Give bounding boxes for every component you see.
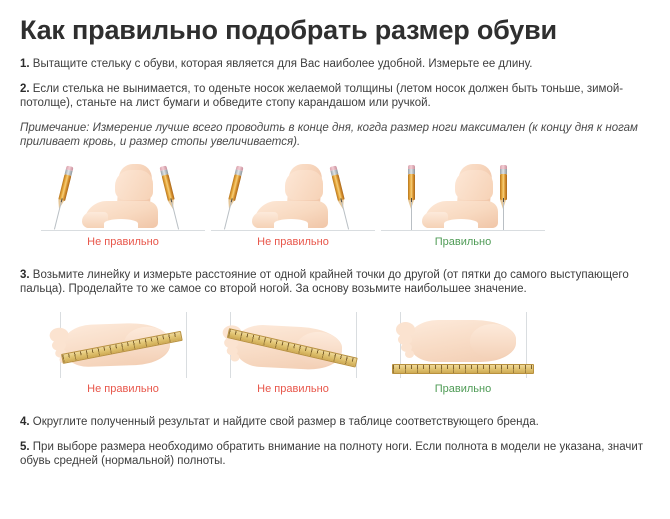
foot-side-illustration	[418, 164, 504, 230]
guide-line	[356, 312, 357, 378]
baseline	[381, 230, 544, 231]
step-2-text: 2. Если стелька не вынимается, то оденьт…	[20, 82, 652, 110]
step-4-label: 4. Округлите полученный результат и найд…	[20, 416, 539, 428]
foot-side-illustration	[248, 164, 334, 230]
figure-stage	[208, 308, 378, 382]
pencil-body	[228, 174, 241, 201]
pencil-body	[408, 174, 415, 200]
heel-shape	[470, 324, 516, 358]
figure-incorrect-pencil-tilt-1: Не правильно	[38, 161, 208, 257]
arch-shape	[444, 219, 478, 228]
figure-caption: Правильно	[378, 235, 548, 249]
pencil-trace-line	[411, 202, 412, 230]
figure-stage	[208, 161, 378, 235]
pencil-body	[58, 174, 71, 201]
figure-row-rulers: Не правильно Не правил	[18, 308, 652, 404]
foot-top-illustration	[396, 318, 516, 364]
figure-caption: Не правильно	[38, 382, 208, 396]
figure-stage	[38, 308, 208, 382]
ankle-shape	[115, 170, 153, 200]
pencil-icon	[500, 165, 507, 209]
step-1-label: 1. Вытащите стельку с обуви, которая явл…	[20, 58, 532, 70]
step-4-text: 4. Округлите полученный результат и найд…	[20, 415, 652, 429]
figure-correct-ruler: Правильно	[378, 308, 548, 404]
pencil-body	[500, 174, 507, 200]
ankle-shape	[285, 170, 323, 200]
baseline	[41, 230, 204, 231]
step-5-text: 5. При выборе размера необходимо обратит…	[20, 440, 652, 468]
figure-stage	[378, 161, 548, 235]
ankle-shape	[455, 170, 493, 200]
pencil-icon	[226, 165, 243, 209]
pencil-ferrule	[408, 169, 415, 174]
figure-stage	[38, 161, 208, 235]
figure-incorrect-pencil-tilt-2: Не правильно	[208, 161, 378, 257]
step-5-label: 5. При выборе размера необходимо обратит…	[20, 441, 643, 467]
pencil-trace-line	[503, 202, 504, 230]
pencil-icon	[56, 165, 73, 209]
ruler-ticks-minor	[393, 369, 533, 373]
arch-shape	[274, 219, 308, 228]
pencil-ferrule	[500, 169, 507, 174]
step-1-text: 1. Вытащите стельку с обуви, которая явл…	[20, 57, 652, 71]
figure-stage	[378, 308, 548, 382]
figure-incorrect-ruler-2: Не правильно	[208, 308, 378, 404]
ruler-icon	[392, 364, 534, 374]
figure-caption: Не правильно	[208, 235, 378, 249]
figure-caption: Не правильно	[38, 235, 208, 249]
figure-caption: Правильно	[378, 382, 548, 396]
baseline	[211, 230, 374, 231]
guide-page: Как правильно подобрать размер обуви 1. …	[0, 16, 670, 519]
note-label: Примечание: Измерение лучше всего провод…	[20, 122, 638, 148]
pencil-icon	[408, 165, 415, 209]
note-text: Примечание: Измерение лучше всего провод…	[20, 121, 652, 149]
figure-row-pencils: Не правильно	[18, 161, 652, 257]
figure-correct-pencil-vertical: Правильно	[378, 161, 548, 257]
step-3-text: 3. Возьмите линейку и измерьте расстояни…	[20, 268, 652, 296]
guide-line	[186, 312, 187, 378]
step-2-label: 2. Если стелька не вынимается, то оденьт…	[20, 83, 623, 109]
figure-incorrect-ruler-1: Не правильно	[38, 308, 208, 404]
toe-shape	[405, 350, 414, 358]
arch-shape	[104, 219, 138, 228]
page-title: Как правильно подобрать размер обуви	[20, 16, 652, 46]
step-3-label: 3. Возьмите линейку и измерьте расстояни…	[20, 269, 629, 295]
foot-side-illustration	[78, 164, 164, 230]
figure-caption: Не правильно	[208, 382, 378, 396]
toe-shape	[230, 353, 239, 361]
